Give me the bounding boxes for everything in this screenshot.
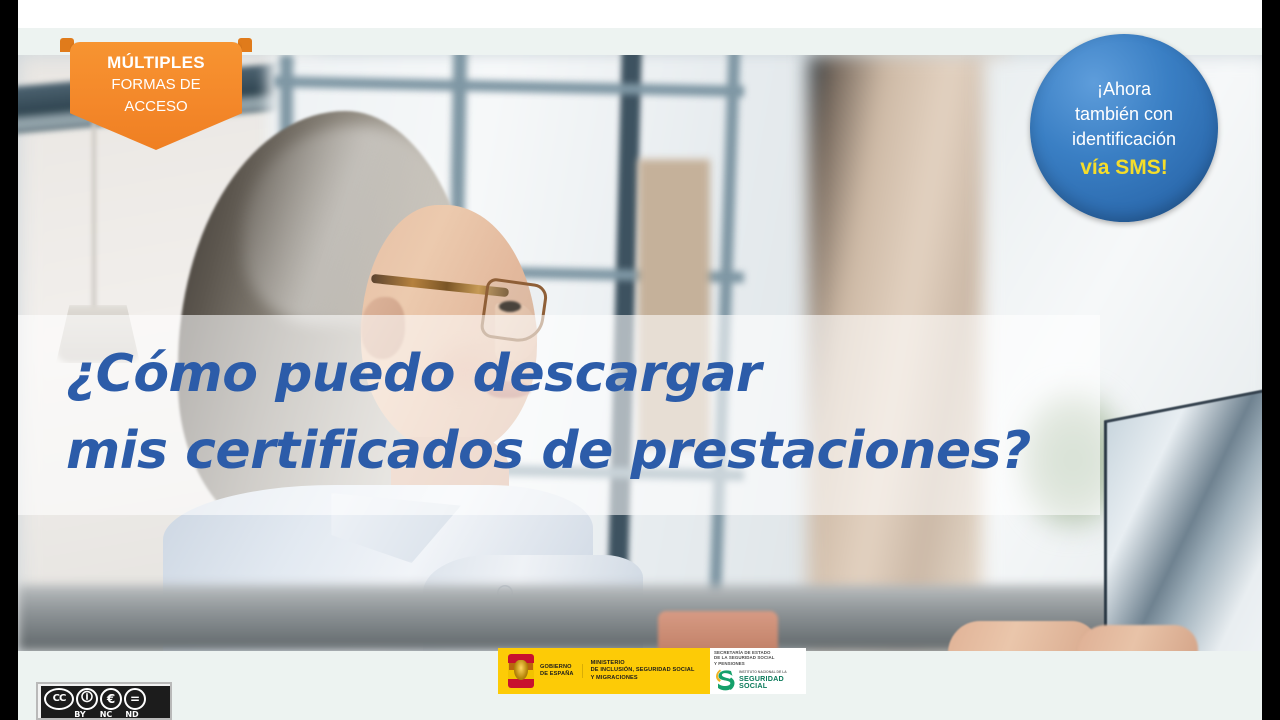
seguridad-social-swirl-icon xyxy=(714,668,736,692)
seguridad-social-logo-block: SECRETARÍA DE ESTADO DE LA SEGURIDAD SOC… xyxy=(710,648,806,694)
circle-badge-line-3: identificación xyxy=(1072,129,1176,149)
photo-laptop-screen xyxy=(1104,380,1262,651)
cc-icon-row: CC 🛈 € = xyxy=(41,686,171,710)
ministry-line-3: Y MIGRACIONES xyxy=(591,675,695,682)
ribbon-label: MÚLTIPLES FORMAS DE ACCESO xyxy=(70,52,242,118)
gov-name-line-2: DE ESPAÑA xyxy=(540,671,574,678)
photo-person-eye xyxy=(499,301,521,312)
multiple-access-ribbon-badge: MÚLTIPLES FORMAS DE ACCESO xyxy=(70,38,242,150)
page-title-line-1: ¿Cómo puedo descargar xyxy=(66,336,1106,413)
inss-big-text: SEGURIDAD SOCIAL xyxy=(739,675,802,689)
noderivatives-equals-icon: = xyxy=(124,688,146,710)
ribbon-label-line-1: MÚLTIPLES xyxy=(70,52,242,74)
inss-logo-row: INSTITUTO NACIONAL DE LA SEGURIDAD SOCIA… xyxy=(714,668,802,692)
photo-coffee-mug xyxy=(658,611,778,651)
circle-badge-label: ¡Ahora también con identificación vía SM… xyxy=(1054,77,1194,180)
inss-wordmark: INSTITUTO NACIONAL DE LA SEGURIDAD SOCIA… xyxy=(739,671,802,689)
cc-terms-row: BY NC ND xyxy=(41,710,171,720)
ribbon-label-line-2: FORMAS DE xyxy=(70,74,242,96)
screenshot-root: ¿Cómo puedo descargar mis certificados d… xyxy=(0,0,1280,720)
secretary-line-3: Y PENSIONES xyxy=(714,661,802,667)
cc-term-by: BY xyxy=(69,710,91,719)
spain-coat-of-arms-icon xyxy=(508,654,534,688)
ministry-line-2: DE INCLUSIÓN, SEGURIDAD SOCIAL xyxy=(591,667,695,674)
page-title-line-2: mis certificados de prestaciones? xyxy=(66,413,1106,490)
sms-identification-circle-badge: ¡Ahora también con identificación vía SM… xyxy=(1030,34,1218,222)
slide-canvas: ¿Cómo puedo descargar mis certificados d… xyxy=(18,0,1262,720)
noncommercial-crossed-euro-icon: € xyxy=(100,688,122,710)
photo-person-hand-right xyxy=(1078,625,1198,651)
ribbon-label-line-3: ACCESO xyxy=(70,96,242,118)
cc-term-nc: NC xyxy=(95,710,117,719)
circle-badge-line-2: también con xyxy=(1075,104,1173,124)
gov-name-block: GOBIERNO DE ESPAÑA xyxy=(540,664,583,679)
attribution-person-icon: 🛈 xyxy=(76,688,98,710)
ministry-name-block: MINISTERIO DE INCLUSIÓN, SEGURIDAD SOCIA… xyxy=(591,660,695,682)
photo-person-hand-left xyxy=(948,621,1098,651)
institutional-logo-bar: GOBIERNO DE ESPAÑA MINISTERIO DE INCLUSI… xyxy=(498,648,806,694)
gov-logo-yellow-block: GOBIERNO DE ESPAÑA MINISTERIO DE INCLUSI… xyxy=(498,648,710,694)
creative-commons-license-badge[interactable]: CC 🛈 € = BY NC ND xyxy=(36,682,172,720)
cc-term-nd: ND xyxy=(121,710,143,719)
page-title: ¿Cómo puedo descargar mis certificados d… xyxy=(66,336,1106,490)
secretary-of-state-text: SECRETARÍA DE ESTADO DE LA SEGURIDAD SOC… xyxy=(714,650,802,667)
cc-badge-inner: CC 🛈 € = BY NC ND xyxy=(41,686,171,720)
gov-name-line-1: GOBIERNO xyxy=(540,664,574,671)
circle-badge-highlight: vía SMS! xyxy=(1072,155,1176,180)
circle-badge-line-1: ¡Ahora xyxy=(1097,79,1151,99)
cc-icon: CC xyxy=(44,688,74,710)
